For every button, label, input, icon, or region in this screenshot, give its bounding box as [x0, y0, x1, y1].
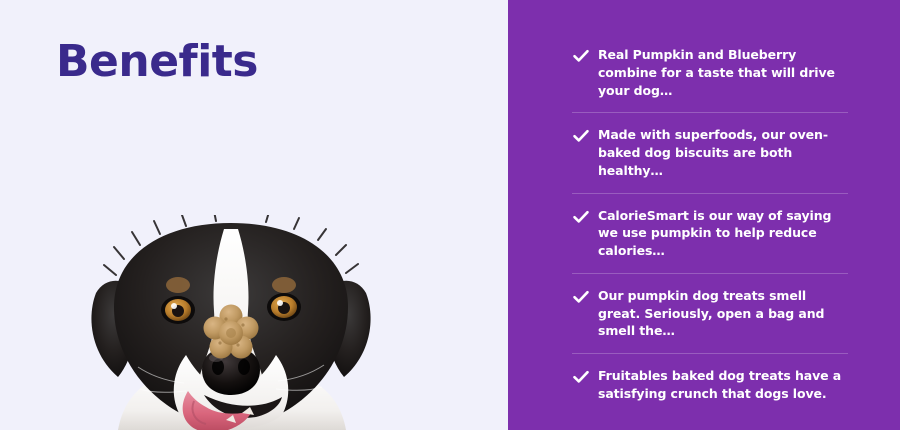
benefit-text: Made with superfoods, our oven-baked dog…: [598, 126, 848, 179]
benefit-text: Real Pumpkin and Blueberry combine for a…: [598, 46, 848, 99]
left-panel: Benefits: [0, 0, 508, 430]
benefit-text: CalorieSmart is our way of saying we use…: [598, 207, 848, 260]
benefits-panel: Real Pumpkin and Blueberry combine for a…: [508, 0, 900, 430]
page-title: Benefits: [56, 40, 258, 84]
check-icon: [572, 288, 598, 306]
benefit-text: Our pumpkin dog treats smell great. Seri…: [598, 287, 848, 340]
benefits-slide: Benefits: [0, 0, 900, 430]
check-icon: [572, 368, 598, 386]
check-icon: [572, 127, 598, 145]
list-item[interactable]: Made with superfoods, our oven-baked dog…: [572, 126, 848, 193]
list-item[interactable]: Real Pumpkin and Blueberry combine for a…: [572, 46, 848, 113]
check-icon: [572, 47, 598, 65]
benefits-list: Real Pumpkin and Blueberry combine for a…: [572, 46, 848, 403]
dog-with-treat-photo: [66, 215, 396, 430]
benefit-text: Fruitables baked dog treats have a satis…: [598, 367, 848, 403]
list-item[interactable]: CalorieSmart is our way of saying we use…: [572, 207, 848, 274]
check-icon: [572, 208, 598, 226]
list-item[interactable]: Our pumpkin dog treats smell great. Seri…: [572, 287, 848, 354]
list-item[interactable]: Fruitables baked dog treats have a satis…: [572, 367, 848, 403]
